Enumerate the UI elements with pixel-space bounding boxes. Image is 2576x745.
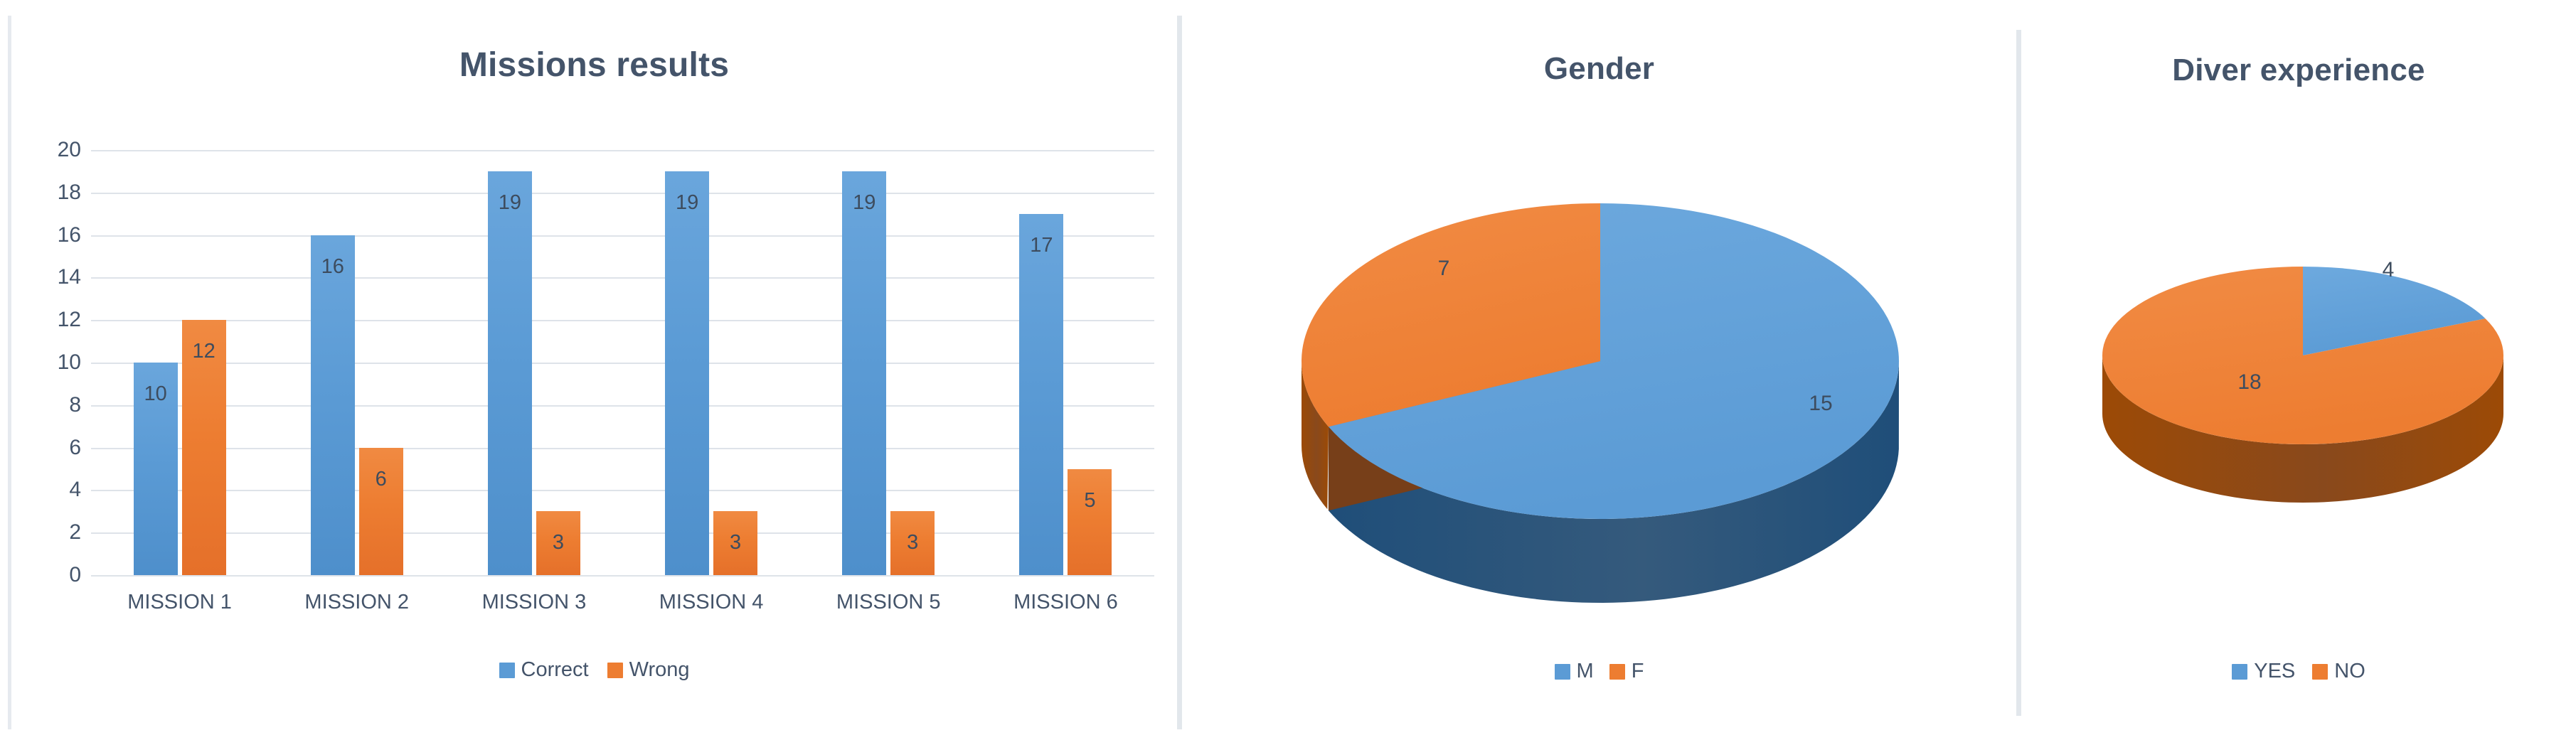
y-axis-tick: 16 (58, 223, 81, 247)
bar-group: 175MISSION 6 (977, 150, 1154, 575)
diver-pie-svg (2075, 235, 2530, 540)
bar-wrong[interactable]: 12 (182, 320, 226, 575)
legend-label: F (1632, 660, 1644, 683)
bar-correct[interactable]: 19 (665, 171, 709, 575)
y-axis-tick: 4 (69, 478, 81, 502)
bar-chart-plot-area: 201816141210864201012MISSION 1166MISSION… (91, 150, 1154, 575)
bar-value-label: 3 (730, 532, 741, 553)
legend-item-yes[interactable]: YES (2232, 660, 2295, 683)
gender-pie-svg (1259, 183, 1942, 624)
missions-results-panel: Missions results 201816141210864201012MI… (11, 0, 1177, 745)
gridline (91, 575, 1154, 577)
y-axis-tick: 2 (69, 520, 81, 545)
legend-swatch-icon (1609, 664, 1625, 680)
diver-legend: YESNO (2021, 660, 2576, 683)
legend-swatch-icon (2232, 664, 2247, 680)
bar-chart-legend: CorrectWrong (11, 658, 1177, 682)
panel-divider-1 (1177, 16, 1182, 729)
legend-item-f[interactable]: F (1609, 660, 1644, 683)
y-axis-tick: 14 (58, 265, 81, 289)
x-axis-tick: MISSION 4 (623, 591, 800, 614)
bar-group: 193MISSION 4 (623, 150, 800, 575)
panel-divider-2 (2016, 30, 2021, 716)
legend-label: YES (2254, 660, 2295, 683)
missions-results-title: Missions results (11, 45, 1177, 85)
bar-value-label: 17 (1030, 235, 1053, 256)
legend-swatch-icon (1555, 664, 1570, 680)
bar-value-label: 5 (1084, 491, 1095, 511)
x-axis-tick: MISSION 6 (977, 591, 1154, 614)
bar-group: 166MISSION 2 (268, 150, 445, 575)
bar-value-label: 3 (553, 532, 564, 553)
y-axis-tick: 6 (69, 436, 81, 460)
y-axis-tick: 12 (58, 308, 81, 332)
legend-label: Wrong (629, 658, 690, 682)
diver-pie-chart: 418 (2075, 235, 2530, 540)
bar-correct[interactable]: 19 (842, 171, 886, 575)
x-axis-tick: MISSION 1 (91, 591, 268, 614)
bar-group: 193MISSION 5 (800, 150, 977, 575)
gender-panel: Gender 157 MF (1182, 0, 2016, 745)
diver-experience-panel: Diver experience 418 YESNO (2021, 0, 2576, 745)
dashboard-root: Missions results 201816141210864201012MI… (0, 0, 2576, 745)
x-axis-tick: MISSION 3 (445, 591, 622, 614)
bar-group: 1012MISSION 1 (91, 150, 268, 575)
bar-wrong[interactable]: 6 (359, 448, 403, 575)
bar-group: 193MISSION 3 (445, 150, 622, 575)
legend-swatch-icon (499, 663, 515, 678)
bar-correct[interactable]: 10 (134, 363, 178, 575)
bar-value-label: 16 (321, 257, 344, 277)
bar-wrong[interactable]: 3 (536, 511, 580, 575)
bar-value-label: 19 (676, 193, 698, 213)
bar-value-label: 3 (907, 532, 918, 553)
legend-label: NO (2334, 660, 2365, 683)
bar-value-label: 10 (144, 384, 166, 404)
legend-item-correct[interactable]: Correct (499, 658, 589, 682)
legend-swatch-icon (2312, 664, 2328, 680)
legend-label: Correct (521, 658, 589, 682)
bar-value-label: 6 (376, 469, 387, 490)
y-axis-tick: 0 (69, 563, 81, 587)
legend-item-m[interactable]: M (1555, 660, 1594, 683)
bar-wrong[interactable]: 3 (890, 511, 935, 575)
y-axis-tick: 20 (58, 138, 81, 162)
legend-swatch-icon (607, 663, 623, 678)
bar-value-label: 19 (499, 193, 521, 213)
y-axis-tick: 8 (69, 393, 81, 417)
legend-item-wrong[interactable]: Wrong (607, 658, 690, 682)
bar-correct[interactable]: 17 (1019, 214, 1063, 575)
y-axis-tick: 18 (58, 181, 81, 205)
legend-label: M (1577, 660, 1594, 683)
gender-title: Gender (1182, 51, 2016, 87)
x-axis-tick: MISSION 5 (800, 591, 977, 614)
bar-correct[interactable]: 19 (488, 171, 532, 575)
diver-experience-title: Diver experience (2021, 53, 2576, 88)
bar-wrong[interactable]: 3 (713, 511, 757, 575)
gender-legend: MF (1182, 660, 2016, 683)
bar-value-label: 12 (192, 341, 215, 362)
x-axis-tick: MISSION 2 (268, 591, 445, 614)
legend-item-no[interactable]: NO (2312, 660, 2365, 683)
bar-wrong[interactable]: 5 (1068, 469, 1112, 576)
y-axis-tick: 10 (58, 350, 81, 375)
bar-value-label: 19 (853, 193, 875, 213)
bar-correct[interactable]: 16 (311, 235, 355, 575)
gender-pie-chart: 157 (1259, 183, 1942, 624)
